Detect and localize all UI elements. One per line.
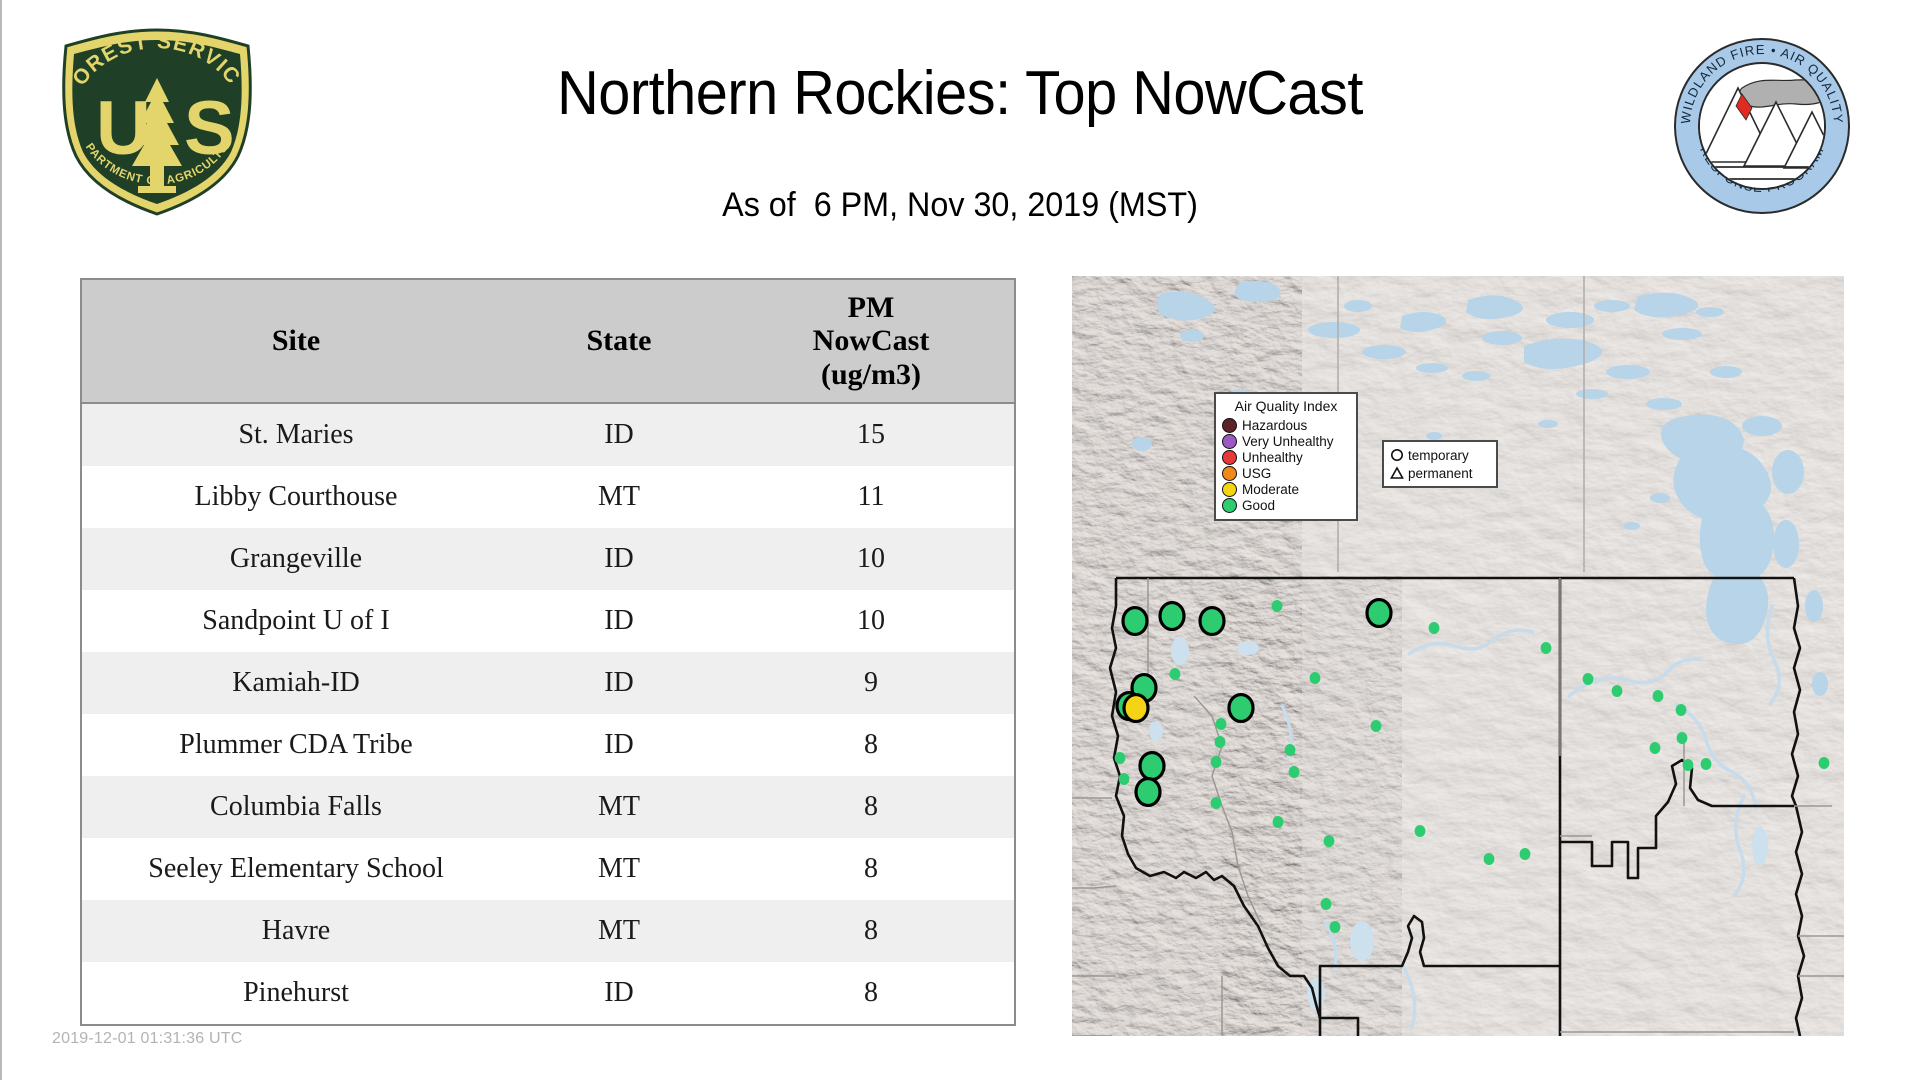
site-type-legend-row-permanent: permanent <box>1390 464 1490 482</box>
aqi-legend-label: Very Unhealthy <box>1242 434 1334 449</box>
map-site-marker[interactable] <box>1170 668 1181 680</box>
map-site-marker[interactable] <box>1140 753 1164 780</box>
column-header-state-label: State <box>587 324 652 357</box>
cell-pm-nowcast: 8 <box>728 714 1015 776</box>
temporary-site-circle-icon <box>1390 447 1404 463</box>
table-row: Columbia FallsMT8 <box>81 776 1015 838</box>
map-site-marker[interactable] <box>1371 720 1382 732</box>
aqi-legend-row: Very Unhealthy <box>1222 433 1350 449</box>
table-row: Seeley Elementary SchoolMT8 <box>81 838 1015 900</box>
aqi-legend-row: Hazardous <box>1222 417 1350 433</box>
map-site-marker[interactable] <box>1367 600 1391 627</box>
wfaqrp-logo: WILDLAND FIRE • AIR QUALITY RESPONSE PRO… <box>1672 36 1852 216</box>
cell-state: MT <box>510 900 728 962</box>
cell-site: Pinehurst <box>81 962 510 1025</box>
map-site-marker[interactable] <box>1819 757 1830 769</box>
column-header-site: Site <box>81 279 510 403</box>
table-row: HavreMT8 <box>81 900 1015 962</box>
map-site-marker[interactable] <box>1216 718 1227 730</box>
cell-state: ID <box>510 652 728 714</box>
aqi-legend: Air Quality Index HazardousVery Unhealth… <box>1214 392 1358 521</box>
map-site-marker[interactable] <box>1119 773 1130 785</box>
table-row: Libby CourthouseMT11 <box>81 466 1015 528</box>
aqi-legend-label: USG <box>1242 466 1271 481</box>
map-site-marker[interactable] <box>1650 742 1661 754</box>
table-row: St. MariesID15 <box>81 403 1015 466</box>
map-site-marker[interactable] <box>1215 736 1226 748</box>
aqi-legend-swatch-icon <box>1222 434 1237 449</box>
cell-site: Libby Courthouse <box>81 466 510 528</box>
map-site-marker[interactable] <box>1123 608 1147 635</box>
column-header-site-label: Site <box>272 324 320 357</box>
table-body: St. MariesID15Libby CourthouseMT11Grange… <box>81 403 1015 1025</box>
cell-state: ID <box>510 403 728 466</box>
cell-state: MT <box>510 776 728 838</box>
map-site-marker[interactable] <box>1115 752 1126 764</box>
cell-state: MT <box>510 838 728 900</box>
generation-timestamp: 2019-12-01 01:31:36 UTC <box>52 1030 243 1048</box>
cell-site: Sandpoint U of I <box>81 590 510 652</box>
aqi-legend-swatch-icon <box>1222 450 1237 465</box>
map-site-marker[interactable] <box>1415 825 1426 837</box>
map-site-marker[interactable] <box>1676 704 1687 716</box>
top-nowcast-table: Site State PM NowCast (ug/m3) St. Maries… <box>80 278 1016 1026</box>
usfs-letter-s: S <box>184 86 235 171</box>
cell-state: ID <box>510 714 728 776</box>
map-site-marker[interactable] <box>1653 690 1664 702</box>
aqi-legend-label: Hazardous <box>1242 418 1307 433</box>
table-row: GrangevilleID10 <box>81 528 1015 590</box>
cell-pm-nowcast: 15 <box>728 403 1015 466</box>
site-type-legend: temporary permanent <box>1382 440 1498 488</box>
cell-pm-nowcast: 10 <box>728 590 1015 652</box>
cell-pm-nowcast: 8 <box>728 838 1015 900</box>
aqi-legend-rows: HazardousVery UnhealthyUnhealthyUSGModer… <box>1222 417 1350 513</box>
cell-pm-nowcast: 8 <box>728 962 1015 1025</box>
map-site-marker[interactable] <box>1136 779 1160 806</box>
map-site-marker[interactable] <box>1289 766 1300 778</box>
cell-pm-nowcast: 8 <box>728 900 1015 962</box>
aqi-legend-row: Moderate <box>1222 481 1350 497</box>
map-site-marker[interactable] <box>1429 622 1440 634</box>
table-row: Sandpoint U of IID10 <box>81 590 1015 652</box>
cell-site: Seeley Elementary School <box>81 838 510 900</box>
aqi-legend-row: Unhealthy <box>1222 449 1350 465</box>
wfaqrp-seal-icon: WILDLAND FIRE • AIR QUALITY RESPONSE PRO… <box>1672 36 1852 216</box>
cell-state: MT <box>510 466 728 528</box>
column-header-pm-line2: NowCast <box>732 324 1010 358</box>
map-site-marker[interactable] <box>1677 732 1688 744</box>
map-site-marker[interactable] <box>1324 835 1335 847</box>
cell-pm-nowcast: 9 <box>728 652 1015 714</box>
map-site-marker[interactable] <box>1330 921 1341 933</box>
cell-site: Columbia Falls <box>81 776 510 838</box>
aqi-legend-label: Good <box>1242 498 1275 513</box>
map-canvas[interactable] <box>1072 276 1844 1036</box>
map-site-marker[interactable] <box>1211 756 1222 768</box>
map-site-marker[interactable] <box>1484 853 1495 865</box>
column-header-pm-line3: (ug/m3) <box>732 358 1010 392</box>
cell-state: ID <box>510 962 728 1025</box>
left-frame-rule <box>0 0 2 1080</box>
permanent-site-triangle-icon <box>1390 465 1404 481</box>
aqi-legend-swatch-icon <box>1222 466 1237 481</box>
cell-pm-nowcast: 8 <box>728 776 1015 838</box>
cell-state: ID <box>510 528 728 590</box>
map-site-marker[interactable] <box>1229 695 1253 722</box>
aqi-legend-swatch-icon <box>1222 482 1237 497</box>
map-site-marker[interactable] <box>1520 848 1531 860</box>
map-site-marker[interactable] <box>1211 797 1222 809</box>
aqi-legend-row: USG <box>1222 465 1350 481</box>
cell-site: St. Maries <box>81 403 510 466</box>
aqi-legend-swatch-icon <box>1222 418 1237 433</box>
aqi-legend-swatch-icon <box>1222 498 1237 513</box>
cell-pm-nowcast: 10 <box>728 528 1015 590</box>
cell-site: Grangeville <box>81 528 510 590</box>
usfs-shield-icon: FOREST SERVICE DEPARTMENT OF AGRICULTURE… <box>52 26 262 216</box>
table-header-row: Site State PM NowCast (ug/m3) <box>81 279 1015 403</box>
map-site-marker[interactable] <box>1701 758 1712 770</box>
table-row: Plummer CDA TribeID8 <box>81 714 1015 776</box>
map-site-marker[interactable] <box>1272 600 1283 612</box>
map-site-marker[interactable] <box>1321 898 1332 910</box>
cell-site: Plummer CDA Tribe <box>81 714 510 776</box>
map-site-marker[interactable] <box>1612 685 1623 697</box>
cell-state: ID <box>510 590 728 652</box>
table-row: Kamiah-IDID9 <box>81 652 1015 714</box>
aqi-legend-label: Moderate <box>1242 482 1299 497</box>
usfs-shield-logo: FOREST SERVICE DEPARTMENT OF AGRICULTURE… <box>52 26 262 216</box>
map-site-marker[interactable] <box>1285 744 1296 756</box>
map-site-marker[interactable] <box>1160 603 1184 630</box>
cell-site: Havre <box>81 900 510 962</box>
aqi-legend-title: Air Quality Index <box>1222 398 1350 414</box>
site-type-legend-label-permanent: permanent <box>1408 466 1473 481</box>
map-site-marker[interactable] <box>1541 642 1552 654</box>
map-site-marker[interactable] <box>1583 673 1594 685</box>
site-type-legend-label-temporary: temporary <box>1408 448 1469 463</box>
map-site-marker[interactable] <box>1273 816 1284 828</box>
map-site-marker[interactable] <box>1310 672 1321 684</box>
column-header-pm-nowcast: PM NowCast (ug/m3) <box>728 279 1015 403</box>
page-title: Northern Rockies: Top NowCast <box>346 58 1574 129</box>
site-type-legend-row-temporary: temporary <box>1390 446 1490 464</box>
aqi-legend-row: Good <box>1222 497 1350 513</box>
page-subtitle: As of 6 PM, Nov 30, 2019 (MST) <box>333 186 1587 225</box>
top-nowcast-table-container: Site State PM NowCast (ug/m3) St. Maries… <box>80 278 990 1026</box>
map-site-marker[interactable] <box>1683 759 1694 771</box>
map-site-marker[interactable] <box>1124 695 1148 722</box>
cell-pm-nowcast: 11 <box>728 466 1015 528</box>
cell-site: Kamiah-ID <box>81 652 510 714</box>
table-row: PinehurstID8 <box>81 962 1015 1025</box>
column-header-state: State <box>510 279 728 403</box>
map-site-marker[interactable] <box>1200 608 1224 635</box>
table-header: Site State PM NowCast (ug/m3) <box>81 279 1015 403</box>
aqi-legend-label: Unhealthy <box>1242 450 1303 465</box>
column-header-pm-line1: PM <box>732 291 1010 325</box>
air-quality-map[interactable] <box>1072 276 1844 1036</box>
